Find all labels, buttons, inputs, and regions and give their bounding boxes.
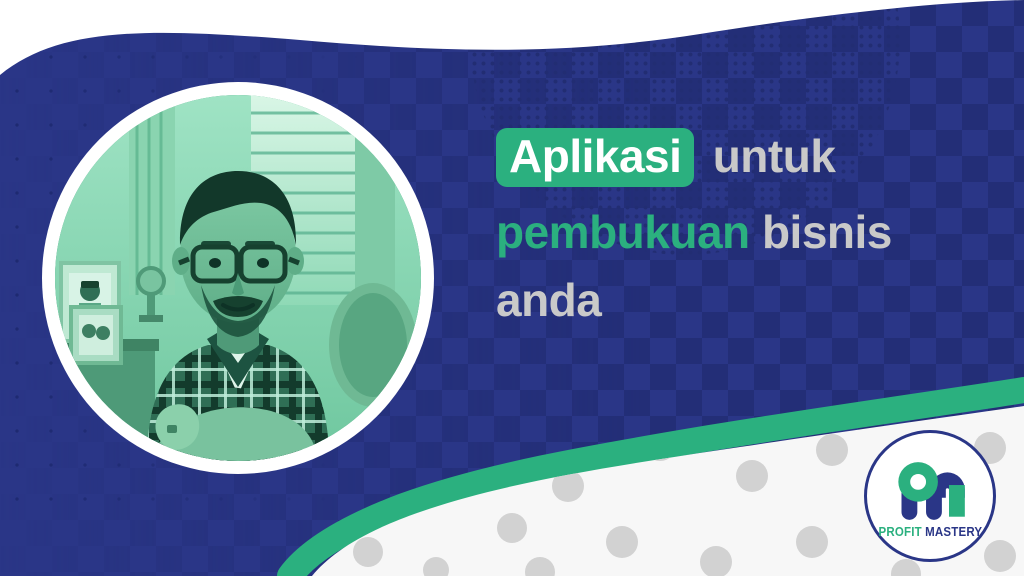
headline-line-3: anda [496,277,996,323]
portrait-photo [55,95,421,461]
headline-word-untuk: untuk [700,130,835,182]
headline-line-1: Aplikasi untuk [496,128,996,187]
promo-banner: Aplikasi untuk pembukuan bisnis anda PRO… [0,0,1024,576]
headline-word-anda: anda [496,274,601,326]
headline-highlight-pill: Aplikasi [496,128,694,187]
headline-line-2: pembukuan bisnis [496,209,996,255]
logo-word-mastery: MASTERY [925,525,982,539]
logo-badge: PROFIT MASTERY [864,430,996,562]
portrait-illustration [55,95,421,461]
profit-mastery-monogram-icon [892,458,968,520]
portrait-frame [42,82,434,474]
headline: Aplikasi untuk pembukuan bisnis anda [496,128,996,323]
logo-word-profit: PROFIT [878,525,925,539]
headline-word-bisnis: bisnis [762,206,892,258]
headline-word-pembukuan: pembukuan [496,206,750,258]
logo-wordmark: PROFIT MASTERY [878,525,982,539]
